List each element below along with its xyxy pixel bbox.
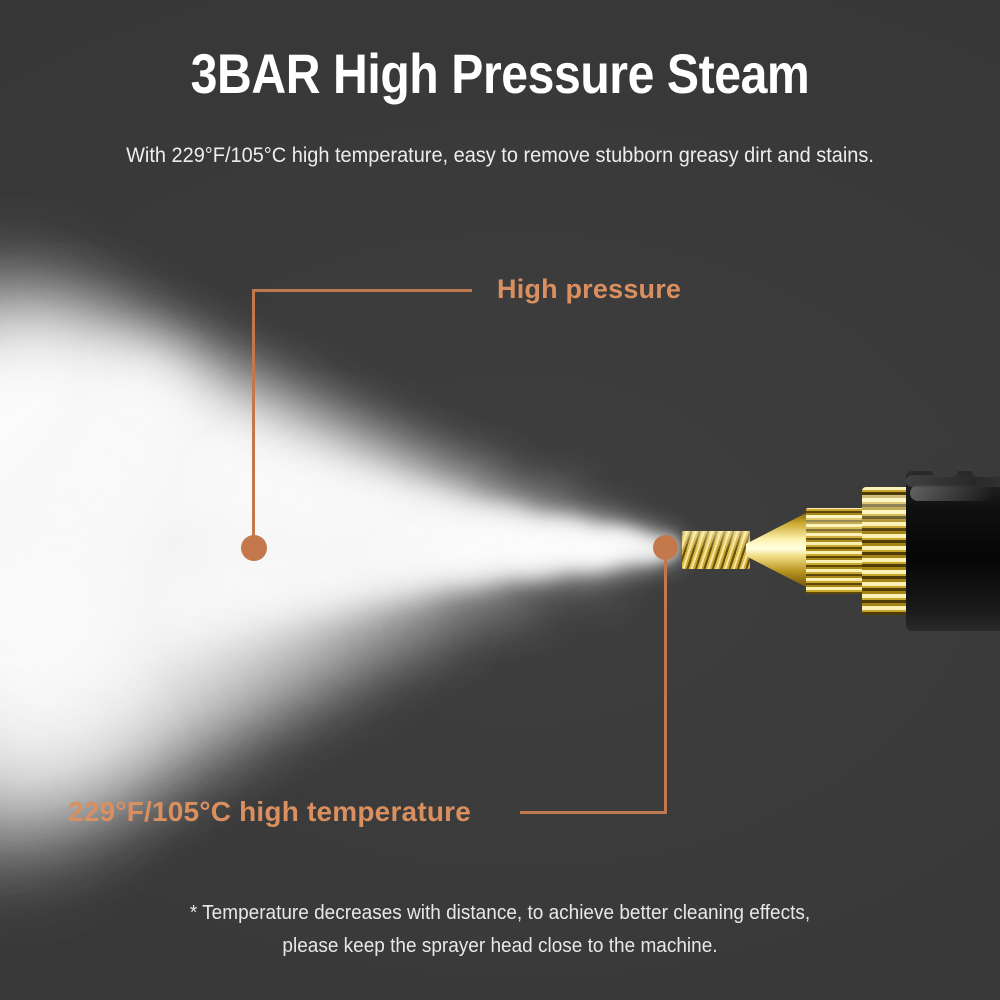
housing-notch [932, 455, 958, 477]
threaded-tip [682, 531, 750, 569]
footnote-line-2: please keep the sprayer head close to th… [25, 930, 975, 963]
callout-label-high-temperature: 229°F/105°C high temperature [68, 794, 471, 830]
page-title: 3BAR High Pressure Steam [70, 44, 930, 104]
page-subtitle: With 229°F/105°C high temperature, easy … [25, 142, 975, 170]
leader-line-high-pressure-vertical [252, 289, 255, 549]
dot-marker-high-pressure [241, 535, 267, 561]
tapered-cone [746, 512, 808, 588]
leader-line-high-temperature-vertical [664, 548, 667, 814]
housing-notch [972, 455, 1000, 477]
steam-jet-core [338, 522, 678, 574]
callout-label-high-pressure: High pressure [497, 272, 681, 306]
leader-line-high-pressure-horizontal [252, 289, 472, 292]
brass-steam-nozzle [660, 455, 1000, 655]
footnote: * Temperature decreases with distance, t… [25, 897, 975, 963]
steam-jet-plume [0, 330, 700, 750]
product-feature-banner: 3BAR High Pressure Steam With 229°F/105°… [0, 0, 1000, 1000]
black-housing [906, 471, 1000, 631]
ribbed-barrel [806, 508, 870, 594]
leader-line-high-temperature-horizontal [520, 811, 667, 814]
footnote-line-1: * Temperature decreases with distance, t… [25, 897, 975, 930]
